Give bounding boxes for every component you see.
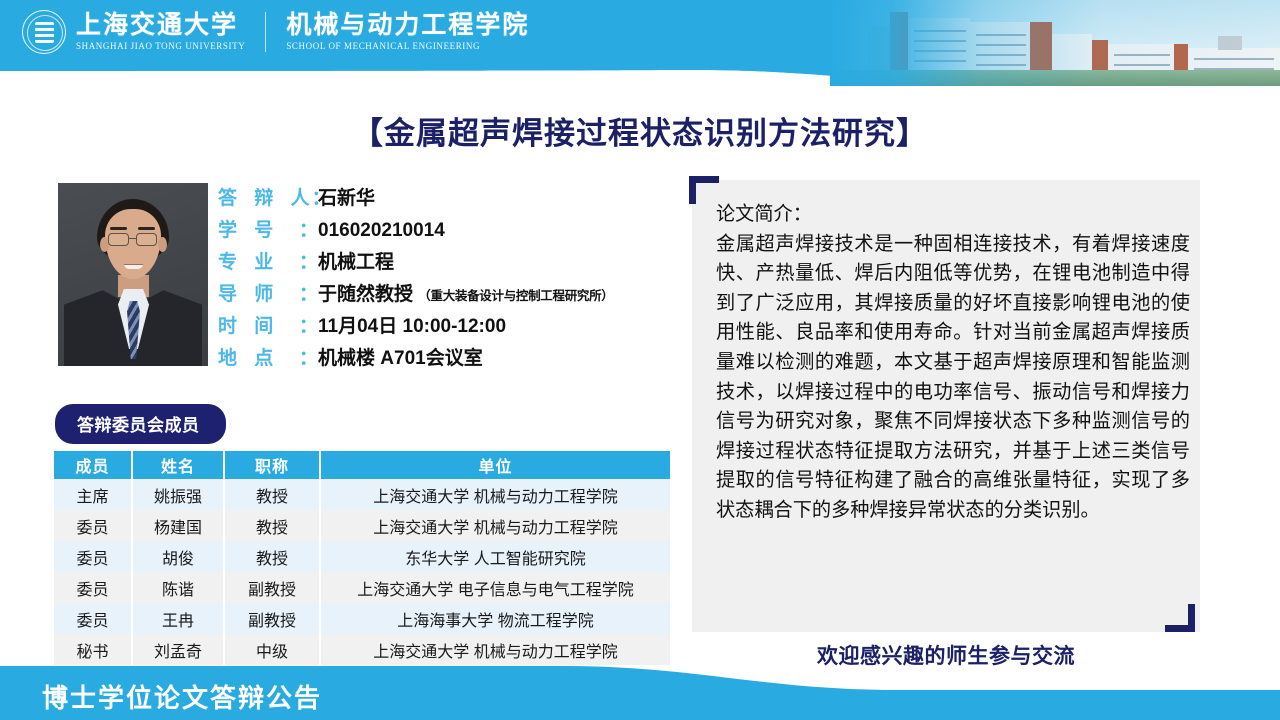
table-row: 委员 杨建国 教授 上海交通大学 机械与动力工程学院: [54, 510, 670, 541]
info-value-advisor-note: （重大装备设计与控制工程研究所）: [418, 289, 613, 303]
committee-badge: 答辩委员会成员: [55, 404, 226, 444]
cell-unit: 上海海事大学 物流工程学院: [320, 603, 670, 634]
col-header-role: 成员: [54, 451, 132, 479]
logo-divider: [265, 12, 266, 52]
col-header-name: 姓名: [132, 451, 224, 479]
table-row: 主席 姚振强 教授 上海交通大学 机械与动力工程学院: [54, 479, 670, 510]
info-label-location: 地 点：: [218, 343, 318, 370]
info-row-advisor: 导 师： 于随然教授 （重大装备设计与控制工程研究所）: [218, 279, 688, 311]
cell-title: 教授: [224, 479, 320, 510]
info-row-major: 专 业： 机械工程: [218, 247, 688, 279]
cell-name: 杨建国: [132, 510, 224, 541]
university-name: 上海交通大学 SHANGHAI JIAO TONG UNIVERSITY: [76, 13, 245, 51]
info-row-student-id: 学 号： 016020210014: [218, 215, 688, 247]
abstract-text: 论文简介：金属超声焊接技术是一种固相连接技术，有着焊接速度快、产热量低、焊后内阻…: [716, 200, 1190, 526]
col-header-title: 职称: [224, 451, 320, 479]
cell-name: 姚振强: [132, 479, 224, 510]
corner-bracket-bottom-right: [1165, 604, 1195, 632]
defense-info-list: 答 辩 人： 石新华 学 号： 016020210014 专 业： 机械工程 导…: [218, 183, 688, 375]
cell-name: 王冉: [132, 603, 224, 634]
info-label-advisor: 导 师：: [218, 279, 318, 306]
info-value-time: 11月04日 10:00-12:00: [318, 311, 506, 338]
header-banner: 上海交通大学 SHANGHAI JIAO TONG UNIVERSITY 机械与…: [0, 0, 1280, 100]
col-header-unit: 单位: [320, 451, 670, 479]
cell-unit: 上海交通大学 机械与动力工程学院: [320, 510, 670, 541]
corner-bracket-top-left: [689, 176, 719, 204]
committee-table: 成员 姓名 职称 单位 主席 姚振强 教授 上海交通大学 机械与动力工程学院 委…: [54, 451, 670, 665]
info-value-location: 机械楼 A701会议室: [318, 343, 483, 370]
cell-name: 陈谐: [132, 572, 224, 603]
cell-title: 副教授: [224, 603, 320, 634]
school-name-en: SCHOOL OF MECHANICAL ENGINEERING: [286, 41, 529, 51]
info-row-time: 时 间： 11月04日 10:00-12:00: [218, 311, 688, 343]
info-row-candidate: 答 辩 人： 石新华: [218, 183, 688, 215]
school-name-cn: 机械与动力工程学院: [286, 13, 529, 39]
table-row: 委员 王冉 副教授 上海海事大学 物流工程学院: [54, 603, 670, 634]
committee-table-body: 主席 姚振强 教授 上海交通大学 机械与动力工程学院 委员 杨建国 教授 上海交…: [54, 479, 670, 665]
table-row: 委员 胡俊 教授 东华大学 人工智能研究院: [54, 541, 670, 572]
school-name: 机械与动力工程学院 SCHOOL OF MECHANICAL ENGINEERI…: [286, 13, 529, 51]
abstract-heading: 论文简介：: [716, 200, 1190, 230]
footer-title: 博士学位论文答辩公告: [42, 678, 322, 715]
info-value-major: 机械工程: [318, 247, 394, 274]
table-row: 委员 陈谐 副教授 上海交通大学 电子信息与电气工程学院: [54, 572, 670, 603]
table-header-row: 成员 姓名 职称 单位: [54, 451, 670, 479]
info-label-candidate: 答 辩 人：: [218, 183, 318, 210]
cell-unit: 上海交通大学 机械与动力工程学院: [320, 479, 670, 510]
candidate-portrait-photo: [58, 183, 208, 366]
info-value-student-id: 016020210014: [318, 220, 445, 242]
sjtu-seal-icon: [22, 10, 66, 54]
info-label-major: 专 业：: [218, 247, 318, 274]
abstract-body: 金属超声焊接技术是一种固相连接技术，有着焊接速度快、产热量低、焊后内阻低等优势，…: [716, 234, 1190, 521]
cell-title: 副教授: [224, 572, 320, 603]
info-row-location: 地 点： 机械楼 A701会议室: [218, 343, 688, 375]
cell-role: 委员: [54, 541, 132, 572]
page-title: 【金属超声焊接过程状态识别方法研究】: [0, 108, 1280, 153]
cell-role: 委员: [54, 572, 132, 603]
cell-name: 胡俊: [132, 541, 224, 572]
cell-role: 委员: [54, 603, 132, 634]
info-label-student-id: 学 号：: [218, 215, 318, 242]
info-value-advisor: 于随然教授 （重大装备设计与控制工程研究所）: [318, 279, 614, 306]
info-value-candidate: 石新华: [318, 183, 375, 210]
defense-announcement-poster: 上海交通大学 SHANGHAI JIAO TONG UNIVERSITY 机械与…: [0, 0, 1280, 720]
brand-logo-block: 上海交通大学 SHANGHAI JIAO TONG UNIVERSITY 机械与…: [22, 10, 529, 54]
cell-role: 主席: [54, 479, 132, 510]
cell-unit: 东华大学 人工智能研究院: [320, 541, 670, 572]
cell-title: 教授: [224, 510, 320, 541]
university-name-cn: 上海交通大学: [76, 13, 245, 39]
cell-title: 教授: [224, 541, 320, 572]
university-name-en: SHANGHAI JIAO TONG UNIVERSITY: [76, 41, 245, 51]
info-label-time: 时 间：: [218, 311, 318, 338]
campus-building-photo: [830, 0, 1280, 86]
cell-role: 委员: [54, 510, 132, 541]
cell-unit: 上海交通大学 电子信息与电气工程学院: [320, 572, 670, 603]
